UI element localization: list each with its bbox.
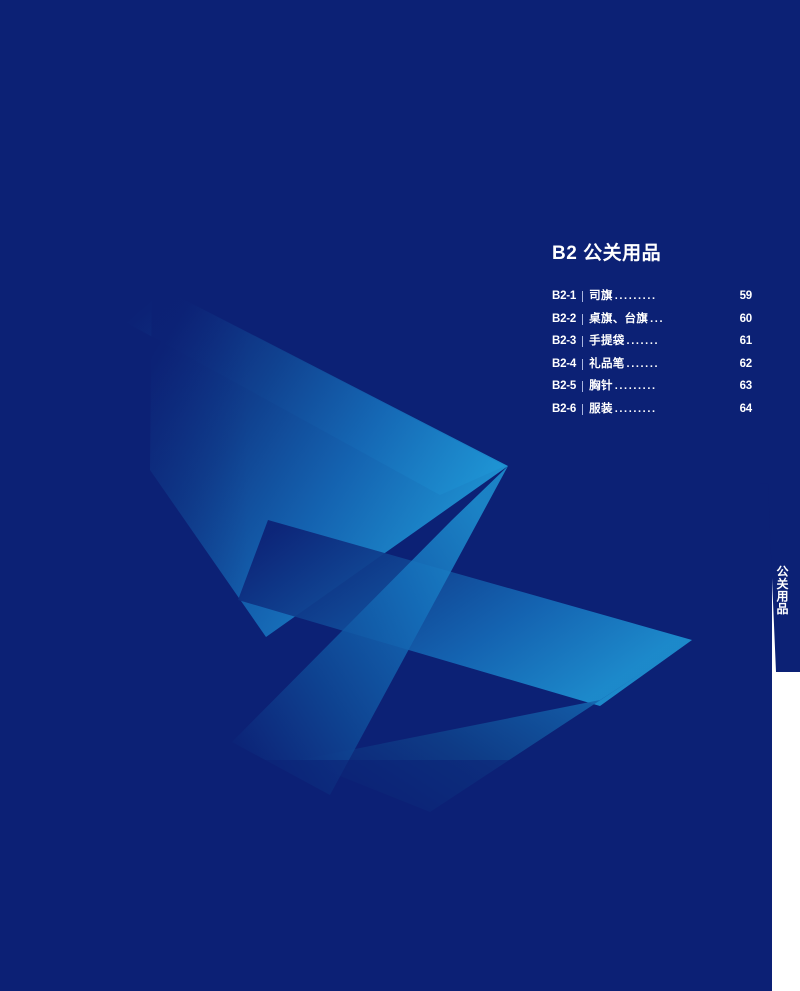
toc-item-leader: ......... — [615, 404, 739, 415]
toc-item-code: B2-6 — [552, 404, 576, 416]
toc-item-page-number: 61 — [740, 336, 752, 348]
toc-item-label: 服装 — [589, 404, 613, 416]
toc-item-divider — [582, 359, 583, 370]
table-of-contents: B2 公关用品 B2-1 司旗 ......... 59 B2-2 桌旗、台旗 … — [552, 238, 752, 426]
toc-item-divider — [582, 404, 583, 415]
toc-item-divider — [582, 314, 583, 325]
toc-item-code: B2-5 — [552, 381, 576, 393]
toc-item-leader: ....... — [627, 359, 739, 370]
toc-item-page-number: 59 — [740, 291, 752, 303]
toc-item-leader: ....... — [627, 336, 739, 347]
toc-item-code: B2-3 — [552, 336, 576, 348]
toc-item-divider — [582, 381, 583, 392]
toc-item-label: 手提袋 — [589, 336, 624, 348]
toc-item-page-number: 64 — [740, 404, 752, 416]
toc-item-divider — [582, 336, 583, 347]
list-item[interactable]: B2-1 司旗 ......... 59 — [552, 291, 752, 303]
toc-item-code: B2-2 — [552, 314, 576, 326]
list-item[interactable]: B2-2 桌旗、台旗 ... 60 — [552, 314, 752, 326]
toc-item-leader: ......... — [615, 291, 739, 302]
list-item[interactable]: B2-3 手提袋 ....... 61 — [552, 336, 752, 348]
toc-item-page-number: 60 — [740, 314, 752, 326]
toc-item-label: 司旗 — [589, 291, 613, 303]
list-item[interactable]: B2-4 礼品笔 ....... 62 — [552, 359, 752, 371]
toc-item-code: B2-1 — [552, 291, 576, 303]
toc-item-leader: ... — [650, 314, 738, 325]
toc-list: B2-1 司旗 ......... 59 B2-2 桌旗、台旗 ... 60 B… — [552, 291, 752, 415]
toc-item-code: B2-4 — [552, 359, 576, 371]
toc-item-label: 胸针 — [589, 381, 613, 393]
list-item[interactable]: B2-6 服装 ......... 64 — [552, 404, 752, 416]
list-item[interactable]: B2-5 胸针 ......... 63 — [552, 381, 752, 393]
page-title: B2 公关用品 — [552, 238, 752, 265]
toc-item-divider — [582, 291, 583, 302]
catalog-section-divider-page: B2 公关用品 B2-1 司旗 ......... 59 B2-2 桌旗、台旗 … — [0, 0, 800, 991]
side-index-tab-label: 公关用品 — [771, 565, 789, 615]
toc-item-page-number: 62 — [740, 359, 752, 371]
toc-item-leader: ......... — [615, 381, 739, 392]
toc-item-label: 礼品笔 — [589, 359, 624, 371]
toc-item-label: 桌旗、台旗 — [589, 314, 648, 326]
navy-background-panel — [0, 0, 772, 991]
toc-item-page-number: 63 — [740, 381, 752, 393]
